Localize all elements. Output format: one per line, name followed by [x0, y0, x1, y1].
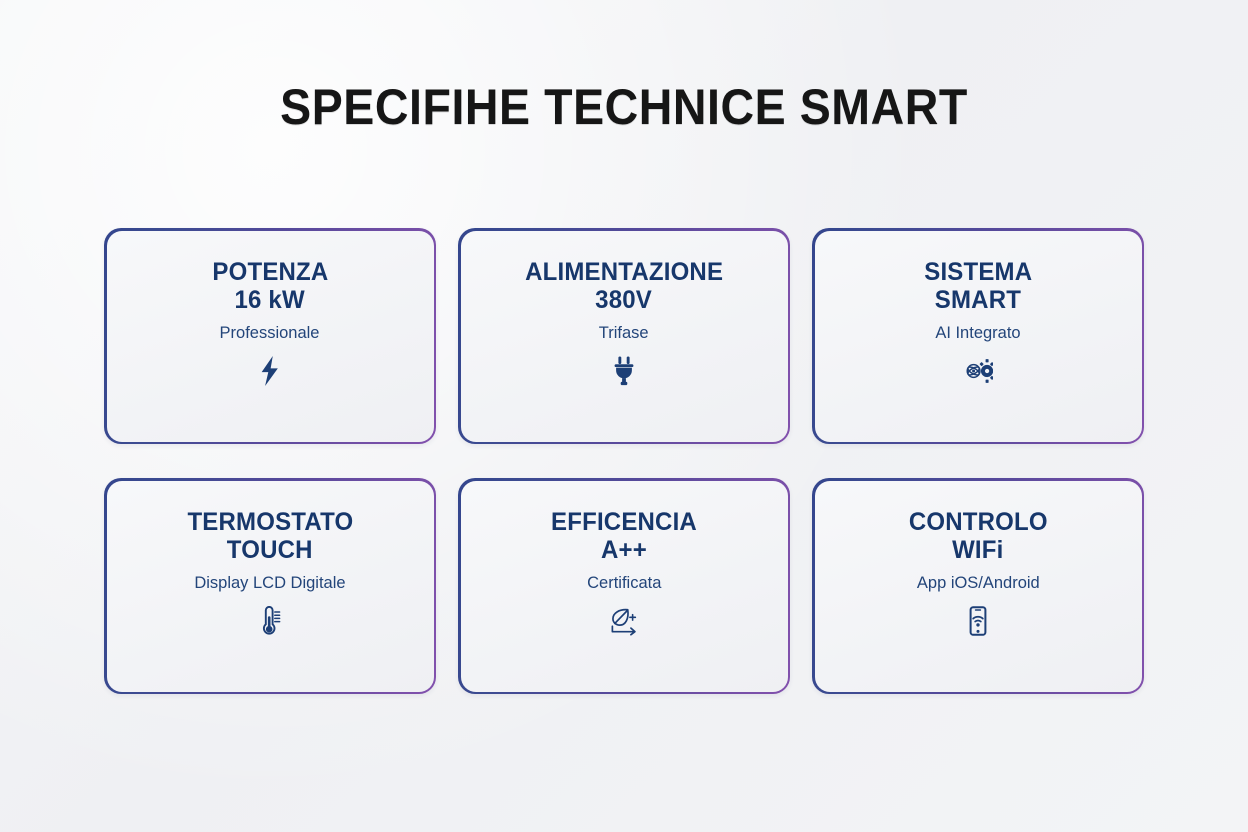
spec-card-body: SISTEMA SMART AI Integrato: [815, 231, 1142, 442]
spec-card-subtitle: Display LCD Digitale: [194, 574, 345, 593]
spec-card-potenza[interactable]: POTENZA 16 kW Professionale: [104, 228, 436, 444]
ai-gear-atom-icon: [963, 356, 993, 386]
spec-card-body: EFFICENCIA A++ Certificata: [461, 481, 788, 692]
lightning-bolt-icon: [255, 356, 285, 386]
thermometer-icon: [255, 606, 285, 636]
spec-card-controlo-wifi[interactable]: CONTROLO WIFi App iOS/Android: [812, 478, 1144, 694]
spec-card-subtitle: Trifase: [599, 324, 649, 343]
spec-card-body: POTENZA 16 kW Professionale: [107, 231, 434, 442]
spec-card-text: ALIMENTAZIONE 380V Trifase: [521, 259, 727, 343]
spec-card-body: CONTROLO WIFi App iOS/Android: [815, 481, 1142, 692]
spec-card-title: CONTROLO: [909, 509, 1048, 536]
spec-card-title: SISTEMA: [924, 259, 1032, 286]
spec-card-alimentazione[interactable]: ALIMENTAZIONE 380V Trifase: [458, 228, 790, 444]
spec-card-value: SMART: [935, 286, 1021, 316]
spec-card-efficencia[interactable]: EFFICENCIA A++ Certificata: [458, 478, 790, 694]
page-title-container: SPECIFIHE TECHNICE SMART: [0, 82, 1248, 132]
power-plug-icon: [609, 356, 639, 386]
spec-card-text: POTENZA 16 kW Professionale: [210, 259, 331, 343]
eco-leaf-icon: [609, 606, 639, 636]
spec-card-subtitle: AI Integrato: [935, 324, 1020, 343]
smartphone-wifi-icon: [963, 606, 993, 636]
spec-card-termostato-touch[interactable]: TERMOSTATO TOUCH Display LCD Digitale: [104, 478, 436, 694]
spec-card-subtitle: App iOS/Android: [917, 574, 1040, 593]
spec-card-title: EFFICENCIA: [551, 509, 697, 536]
spec-card-title: TERMOSTATO: [187, 509, 353, 536]
spec-card-value: A++: [601, 536, 647, 566]
spec-card-subtitle: Professionale: [220, 324, 320, 343]
spec-card-text: TERMOSTATO TOUCH Display LCD Digitale: [184, 509, 357, 593]
spec-cards-grid: POTENZA 16 kW Professionale ALIMENTAZION…: [104, 228, 1144, 694]
spec-sheet-page: SPECIFIHE TECHNICE SMART POTENZA 16 kW P…: [0, 0, 1248, 832]
spec-card-value: 380V: [596, 286, 653, 316]
spec-card-value: WIFi: [952, 536, 1003, 566]
spec-card-value: TOUCH: [227, 536, 313, 566]
spec-card-text: EFFICENCIA A++ Certificata: [548, 509, 700, 593]
spec-card-sistema-smart[interactable]: SISTEMA SMART AI Integrato: [812, 228, 1144, 444]
spec-card-text: SISTEMA SMART AI Integrato: [922, 259, 1035, 343]
spec-card-subtitle: Certificata: [587, 574, 661, 593]
spec-card-text: CONTROLO WIFi App iOS/Android: [906, 509, 1051, 593]
spec-card-body: ALIMENTAZIONE 380V Trifase: [461, 231, 788, 442]
spec-card-title: POTENZA: [212, 259, 328, 286]
page-title: SPECIFIHE TECHNICE SMART: [44, 82, 1205, 132]
spec-card-title: ALIMENTAZIONE: [525, 259, 723, 286]
spec-card-body: TERMOSTATO TOUCH Display LCD Digitale: [107, 481, 434, 692]
spec-card-value: 16 kW: [235, 286, 305, 316]
